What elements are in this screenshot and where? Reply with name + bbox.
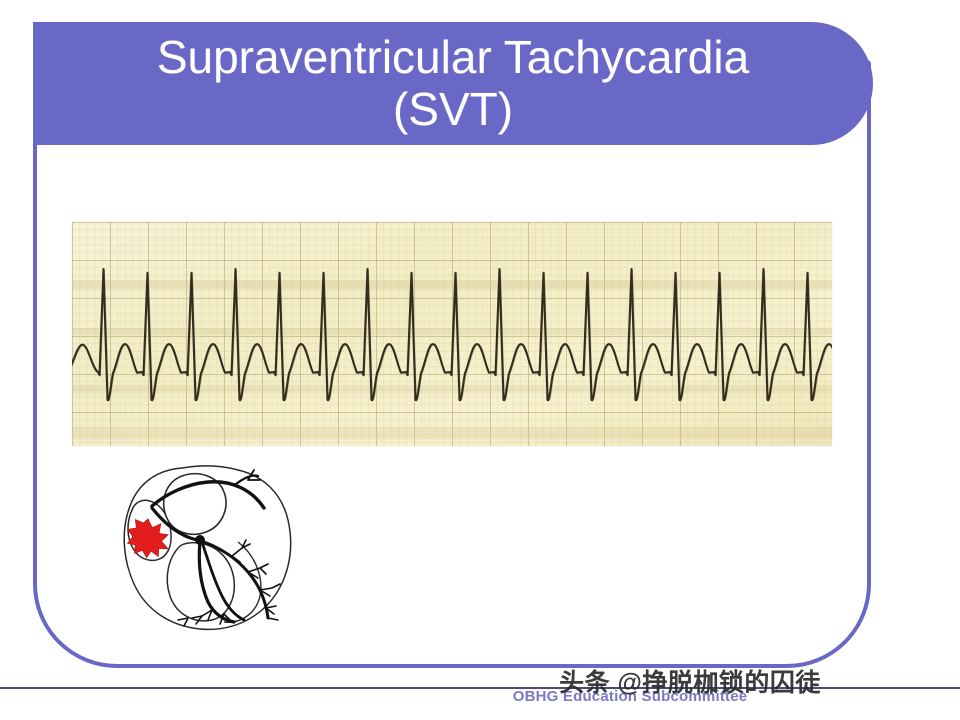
ecg-rhythm-strip — [72, 222, 832, 446]
heart-conduction-diagram — [108, 462, 328, 634]
page-title: Supraventricular Tachycardia (SVT) — [133, 32, 773, 135]
slide-canvas: Supraventricular Tachycardia (SVT) — [0, 0, 960, 720]
watermark-text: 头条 @挣脱枷锁的囚徒 — [0, 663, 960, 699]
title-banner: Supraventricular Tachycardia (SVT) — [33, 22, 873, 145]
